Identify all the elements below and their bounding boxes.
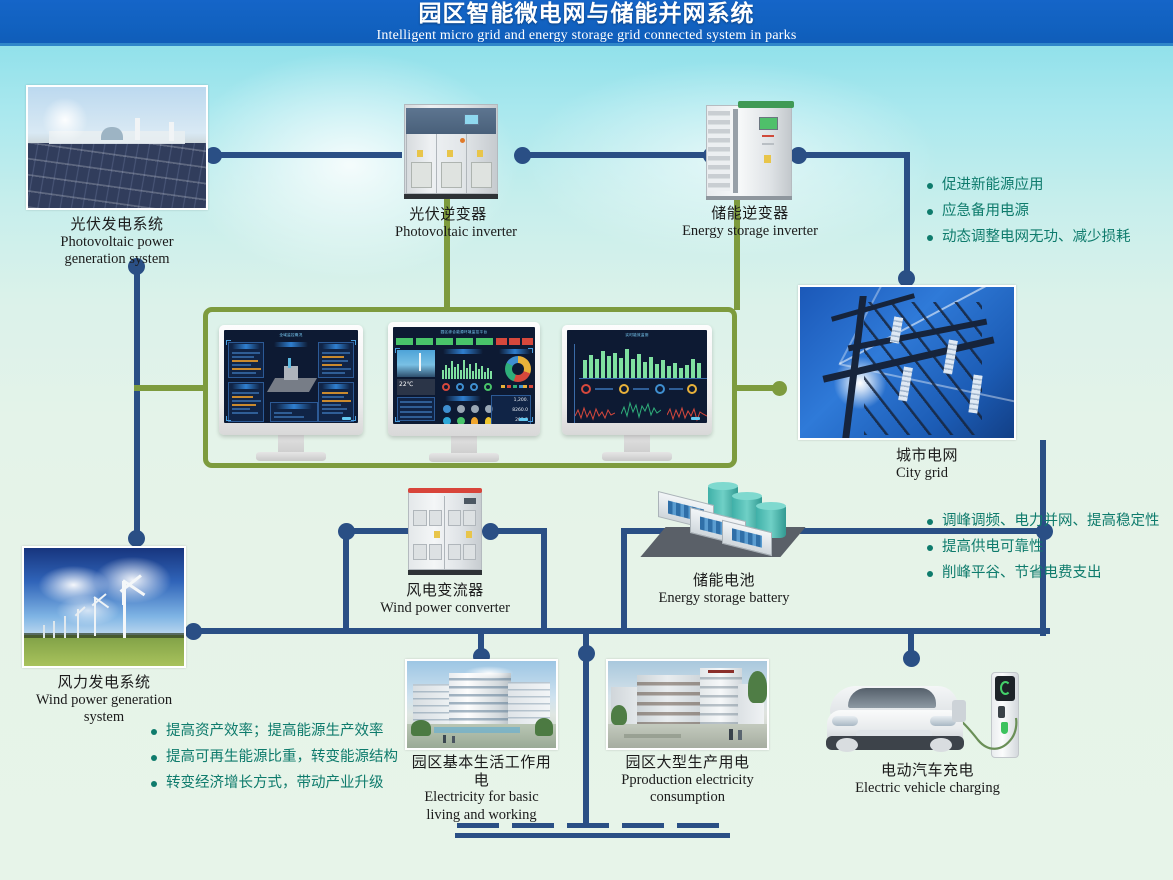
dl-row [232,360,258,362]
wind-treeline [24,633,184,638]
stinv-green-cap [738,101,794,108]
dashboard-center-metric1: 1,200. [514,398,528,403]
pv-panel-rails [28,143,206,208]
photovoltaic-label-en1: Photovoltaic power [26,234,208,252]
page-header: 园区智能微电网与储能并网系统 Intelligent micro grid an… [0,0,1173,46]
dr-bar [679,368,683,378]
pvinv-vent-3 [471,162,492,188]
dc-photo-tile [397,350,435,377]
dashboard-left-title: 全域监控概况 [224,333,358,338]
bullet-item: 提高供电可靠性 [926,534,1160,560]
dl-row [322,356,344,358]
dc-bar [445,365,447,379]
dl-3d-equipment [284,366,298,380]
ev-charger-logo-icon [1000,681,1011,695]
dl-row [322,360,348,362]
citygrid-lattice [864,302,982,435]
city-grid-photo [798,285,1016,440]
pvinv-vent-1 [411,162,432,188]
dl-row [232,368,261,370]
storage-inverter-caption: 储能逆变器 Energy storage inverter [670,205,830,240]
line-windconv-left-up [343,528,349,632]
wind-generation-photo [22,546,186,668]
dl-hdr-tr [322,344,349,349]
living-electricity-label-en2: living and working [405,807,558,825]
ev-charging-caption: 电动汽车充电 Electric vehicle charging [820,762,1035,797]
stinv-warn [764,155,771,163]
line-pv-to-pvinv [210,152,402,158]
wind-turbine-blade-1c [122,581,125,605]
monitor-right-base [602,452,672,461]
wconv-red-cap [408,488,482,493]
dl-row [274,412,292,414]
node-city-grid[interactable]: 城市电网 City grid [798,285,1016,482]
dc-bar [463,360,465,379]
living-electricity-label-cn: 园区基本生活工作用电 [405,754,558,789]
dl-panel-br [318,382,354,422]
dl-row [322,352,350,354]
dc-bar [475,363,477,379]
dc-photo-turbine [419,353,421,371]
pv-stack-1 [135,118,140,140]
bullet-item: 削峰平谷、节省电费支出 [926,560,1160,586]
dr-bar [607,356,611,378]
living-bldg-left-floors [413,684,452,724]
production-electricity-label-en1: Pproduction electricity [606,772,769,790]
bullet-item: 转变经济增长方式，带动产业升级 [150,770,398,796]
dl-row [322,392,348,394]
ev-car-windshield [848,688,936,708]
dr-bar [601,351,605,378]
ground-symbol [455,822,730,842]
dr-gauge [581,384,591,394]
dc-bar [460,370,462,379]
header-rule [0,43,1173,46]
line-wind-to-bus [190,628,1050,634]
dc-chip [436,338,453,345]
ev-car-side [952,700,966,722]
monitor-center-bezel: 园区综合能源环境监控平台 22℃ [388,322,540,436]
pv-inverter-label-en: Photovoltaic inverter [395,224,501,242]
dl-hdr-tl [232,344,259,349]
dot-windconv-left [338,523,355,540]
monitor-right-bezel: 实时能效监测 [562,325,712,435]
living-sunglow [464,666,515,680]
wind-field [24,635,184,666]
dr-waveform-2 [621,398,661,423]
wconv-vent-1 [413,510,427,526]
photovoltaic-label-en2: generation system [26,251,208,269]
dr-gauge [687,384,697,394]
monitor-right-screen: 实时能效监测 [567,330,707,423]
wconv-vent-3 [448,510,461,526]
dc-row [400,411,432,413]
dr-bar [595,359,599,378]
dc-icon [443,405,451,413]
pvinv-warn-1 [417,150,423,157]
living-tree-2 [535,718,553,735]
dc-center-header [443,349,483,354]
node-wind-converter[interactable]: 风电变流器 Wind power converter [404,484,486,617]
dr-bar [643,362,647,378]
dl-3d-tower [288,358,291,368]
living-person-1 [443,735,446,743]
monitor-center[interactable]: 园区综合能源环境监控平台 22℃ [388,322,540,462]
dc-icon [471,405,479,413]
monitor-right[interactable]: 实时能效监测 [562,325,712,461]
dc-gauge [470,383,478,391]
dr-yaxis [574,344,575,423]
dc-bar [472,371,474,379]
dc-bar [466,368,468,379]
storage-battery-art [648,480,798,570]
wind-converter-label-cn: 风电变流器 [365,582,525,600]
battery-tank-1-top [708,482,738,490]
pvinv-seam-2 [436,134,437,194]
dr-barchart [581,346,705,378]
dc-gauge [442,383,450,391]
dashboard-center-title: 园区综合能源环境监控平台 [393,330,535,335]
bullet-item: 应急备用电源 [926,198,1131,224]
pvinv-seam-1 [406,134,407,194]
stinv-strip-1 [762,135,774,137]
dc-chip [522,338,533,345]
monitor-center-screen: 园区综合能源环境监控平台 22℃ [393,327,535,424]
stinv-louvers [708,111,730,191]
bullet-item: 动态调整电网无功、减少损耗 [926,224,1131,250]
dot-pv-down-bottom [128,530,145,547]
wind-generation-label-en1: Wind power generation [9,692,199,710]
dl-row [322,412,343,414]
dl-row [232,352,260,354]
ev-charging-label-cn: 电动汽车充电 [820,762,1035,780]
dc-bar [490,371,492,379]
dr-axis [579,378,707,379]
photovoltaic-label-cn: 光伏发电系统 [26,216,208,234]
dl-corner-tr [351,340,356,345]
node-storage-inverter[interactable]: 储能逆变器 Energy storage inverter [700,97,800,240]
dr-bar [655,364,659,378]
living-electricity-photo [405,659,558,750]
node-photovoltaic[interactable]: 光伏发电系统 Photovoltaic power generation sys… [26,85,208,269]
dr-bar [625,349,629,378]
dc-icons-header [445,396,481,401]
ground-seg-5 [677,823,719,828]
wind-converter-caption: 风电变流器 Wind power converter [365,582,525,617]
dr-bar [685,365,689,378]
dr-bar [613,353,617,378]
city-grid-label-cn: 城市电网 [896,447,1026,465]
dr-bar [667,366,671,378]
dc-icon [457,405,465,413]
dc-corner-tl [395,348,400,353]
prod-tree-1 [748,671,767,702]
node-living-electricity[interactable]: 园区基本生活工作用电 Electricity for basic living … [405,659,558,824]
monitor-right-led [691,417,700,420]
wind-turbine-mast-6 [43,625,45,638]
battery-tank-3-top [756,502,786,510]
dl-row [322,404,341,406]
wconv-warn-2 [466,531,472,538]
production-electricity-label-en2: consumption [606,789,769,807]
dc-icon [443,417,451,424]
node-storage-battery[interactable]: 储能电池 Energy storage battery [648,480,798,607]
prod-tree-2 [611,705,627,726]
dl-panel-tl [228,342,264,378]
dc-icon [471,417,478,424]
wconv-vent-7 [448,544,461,560]
photovoltaic-photo [26,85,208,210]
ground-seg-3 [567,823,609,828]
line-pv-down [134,265,140,538]
dc-bar [457,364,459,379]
ev-car-headlight-left [832,716,858,726]
dr-waveform-1 [575,402,615,423]
dr-bar [691,359,695,378]
photovoltaic-caption: 光伏发电系统 Photovoltaic power generation sys… [26,216,208,269]
dc-chip [509,338,520,345]
dl-row [322,364,342,366]
line-storeinv-right [795,152,910,158]
prod-person-1 [729,729,733,740]
dc-bar [484,372,486,379]
production-electricity-label-cn: 园区大型生产用电 [606,754,769,772]
living-water [434,727,520,733]
city-grid-label-en: City grid [896,465,1026,483]
pvinv-top-panel [406,108,496,134]
dc-corner-tr [528,348,533,353]
monitor-left-bezel: 全域监控概况 [219,325,363,435]
dr-bar [619,358,623,378]
bullet-list-top-right: 促进新能源应用 应急备用电源 动态调整电网无功、减少损耗 [926,172,1131,250]
dot-production-in [578,645,595,662]
node-ev-charging[interactable]: 电动汽车充电 Electric vehicle charging [826,670,1041,797]
dr-bar [661,360,665,378]
node-wind-generation[interactable]: 风力发电系统 Wind power generation system [22,546,186,727]
storage-battery-label-cn: 储能电池 [634,572,814,590]
pv-inverter-caption: 光伏逆变器 Photovoltaic inverter [395,206,501,241]
monitor-center-base [429,453,499,462]
pv-stack-2 [169,122,174,141]
dc-row [400,416,432,418]
pvinv-warn-3 [477,150,483,157]
dl-corner-bl [226,416,231,421]
pvinv-vent-2 [441,162,462,188]
wconv-vent-4 [463,510,476,526]
ev-charging-label-en: Electric vehicle charging [820,780,1035,798]
dl-hdr-bot [276,404,313,409]
dc-corner-br [528,417,533,422]
dr-bar [673,363,677,378]
dc-chip [416,338,433,345]
wind-converter-cabinet [404,484,486,576]
bullet-list-mid-right: 调峰调频、电力并网、提高稳定性 提高供电可靠性 削峰平谷、节省电费支出 [926,508,1160,586]
dc-corner-bl [395,417,400,422]
pvinv-indicator [460,138,465,143]
wconv-vent-2 [429,510,442,526]
monitor-right-neck [624,435,650,452]
dr-legend-row [595,388,613,390]
wconv-vent-5 [413,544,427,560]
prod-bldg-tower-floors [700,677,741,724]
dl-row [232,400,261,402]
wconv-vent-8 [463,544,476,560]
dr-bar [583,360,587,378]
pv-inverter-cabinet [398,100,504,200]
monitor-left-neck [278,435,304,452]
dc-row [400,401,432,403]
dl-corner-tl [226,340,231,345]
wconv-base [408,570,482,575]
living-bldg-main-floors [449,678,512,723]
living-bldg-right-floors [508,682,550,724]
dr-bar [631,359,635,378]
dc-barchart [441,357,493,379]
monitor-center-neck [451,436,477,453]
bullet-item: 提高资产效率；提高能源生产效率 [150,718,398,744]
pv-sun [42,97,88,143]
dl-row [232,356,254,358]
bullet-item: 调峰调频、电力并网、提高稳定性 [926,508,1160,534]
living-electricity-label-en1: Electricity for basic [405,789,558,807]
dl-row [274,416,304,418]
wind-generation-label-cn: 风力发电系统 [9,674,199,692]
dr-legend-row [669,388,683,390]
dc-bar [442,370,444,379]
pvinv-base [404,194,498,199]
page-title-cn: 园区智能微电网与储能并网系统 [0,0,1173,27]
dc-bar [487,368,489,379]
wconv-warn-1 [434,531,440,538]
dc-gauge [456,383,464,391]
dashboard-center-metric2: 8260.0 [512,408,528,413]
dc-row [400,406,432,408]
dl-row [232,392,259,394]
stinv-base [706,196,792,200]
dc-bar [451,361,453,379]
dr-legend-row [633,388,649,390]
dr-bar [649,357,653,378]
monitor-left-base [256,452,326,461]
dl-3d-platform [267,378,317,392]
line-windconv-right-down [541,528,547,632]
storage-inverter-label-en: Energy storage inverter [670,223,830,241]
dc-bar [481,366,483,379]
dl-row [232,408,250,410]
line-green-left-stub [134,385,208,391]
dc-legend [501,385,535,388]
monitor-left-led [342,417,351,420]
dc-bar [478,369,480,379]
dot-green-citygrid [772,381,787,396]
dc-chip [456,338,473,345]
ev-car-foglight-right [930,738,952,752]
dc-gauge [484,383,492,391]
bullet-list-bottom-left: 提高资产效率；提高能源生产效率 提高可再生能源比重，转变能源结构 转变经济增长方… [150,718,398,796]
dl-row [322,400,351,402]
dc-chip [476,338,493,345]
dc-bar [469,364,471,379]
dl-row [322,396,344,398]
dc-donut-header [499,349,531,354]
living-tree-1 [411,720,430,736]
dr-bar [637,354,641,378]
ev-car-foglight-left [836,738,858,752]
storage-inverter-label-cn: 储能逆变器 [670,205,830,223]
prod-person-2 [738,730,742,740]
monitor-left[interactable]: 全域监控概况 [219,325,363,461]
node-production-electricity[interactable]: 园区大型生产用电 Pproduction electricity consump… [606,659,769,807]
ground-baseline [455,833,730,838]
ground-seg-4 [622,823,664,828]
pvinv-warn-2 [447,150,453,157]
dc-chip [496,338,507,345]
node-pv-inverter[interactable]: 光伏逆变器 Photovoltaic inverter [398,100,504,241]
stinv-display [759,117,778,130]
dot-ev-in [903,650,920,667]
dl-row [232,372,256,374]
dc-bar [448,368,450,379]
prod-path [624,734,681,738]
dr-bar [589,355,593,378]
monitor-center-led [519,418,528,421]
dc-panel-left-rows [397,397,435,421]
dashboard-center-temperature: 22℃ [399,381,413,388]
dl-row [232,404,256,406]
wind-turbine-mast-5 [53,621,55,638]
dr-gauge [619,384,629,394]
dl-hdr-bl [232,384,259,389]
pvinv-hmi-screen [464,114,479,125]
bullet-item: 促进新能源应用 [926,172,1131,198]
dc-icon [457,417,465,424]
prod-bldg-sign [708,670,733,673]
pvinv-seam-3 [466,134,467,194]
living-person-2 [452,736,455,743]
diagram-canvas: 园区智能微电网与储能并网系统 Intelligent micro grid an… [0,0,1173,880]
dr-waveform-3 [667,402,707,423]
production-electricity-photo [606,659,769,750]
dl-panel-tr [318,342,354,378]
line-pvinv-to-storeinv [519,152,719,158]
wconv-vent-6 [429,544,442,560]
bullet-item: 提高可再生能源比重，转变能源结构 [150,744,398,770]
dl-row [322,408,347,410]
dr-gauge [655,384,665,394]
stinv-strip-2 [762,143,774,145]
living-electricity-caption: 园区基本生活工作用电 Electricity for basic living … [405,754,558,824]
dot-pvinv-out [514,147,531,164]
storage-inverter-cabinet [700,97,800,200]
storage-battery-caption: 储能电池 Energy storage battery [634,572,814,607]
pv-hill [101,127,123,140]
dl-row [232,412,258,414]
dl-corner-br [351,416,356,421]
wind-turbine-mast-4 [64,616,66,637]
monitor-left-screen: 全域监控概况 [224,330,358,423]
line-battery-left-down [621,528,627,632]
wind-converter-label-en: Wind power converter [365,600,525,618]
battery-tank-2-top [732,492,762,500]
city-grid-caption: 城市电网 City grid [896,447,1026,482]
line-corner-down-citygrid [904,152,910,277]
dl-hdr-br [322,384,349,389]
ev-charging-art [826,670,1041,760]
dr-bar [697,363,701,378]
wconv-seam [444,496,445,570]
dl-panel-bl [228,382,264,422]
dl-panel-bottom [270,402,318,422]
